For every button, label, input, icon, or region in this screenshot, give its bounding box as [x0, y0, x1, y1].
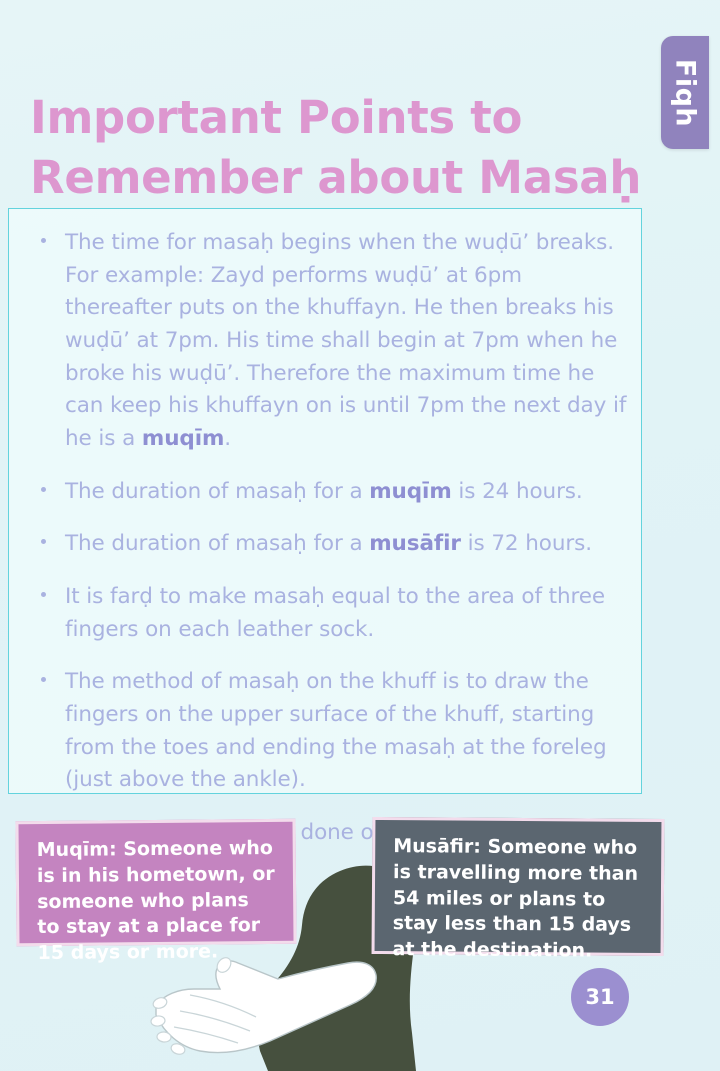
definition-term-musafir: Musāfir: — [393, 835, 481, 858]
bullet-term: muqīm — [369, 479, 451, 504]
bullet-text: is 24 hours. — [452, 479, 583, 504]
bullet-dot-icon — [41, 539, 46, 544]
bullet-text: The time for masaḥ begins when the wuḍū’… — [65, 230, 626, 451]
textbook-page: Fiqh Important Points to Remember about … — [0, 0, 720, 1071]
page-title-line-1: Important Points to — [30, 88, 680, 147]
bullet-text: The duration of masaḥ for a — [65, 479, 369, 504]
bullet-text: It is farḍ to make masaḥ equal to the ar… — [65, 584, 605, 642]
bullet-dot-icon — [41, 592, 46, 597]
bullet-text: The duration of masaḥ for a — [65, 531, 369, 556]
bullet-term: muqīm — [142, 426, 224, 451]
bullet-item: The duration of masaḥ for a musāfir is 7… — [39, 528, 627, 561]
page-title: Important Points to Remember about Masaḥ — [30, 88, 680, 207]
bullet-term: musāfir — [369, 531, 461, 556]
page-number-badge: 31 — [571, 968, 629, 1026]
bullet-list: The time for masaḥ begins when the wuḍū’… — [9, 209, 641, 850]
bullet-item: The time for masaḥ begins when the wuḍū’… — [39, 227, 627, 456]
bullet-item: The method of masaḥ on the khuff is to d… — [39, 666, 627, 797]
bullet-dot-icon — [41, 238, 46, 243]
bullet-item: The duration of masaḥ for a muqīm is 24 … — [39, 476, 627, 509]
definition-box-musafir: Musāfir: Someone who is travelling more … — [372, 817, 665, 956]
page-title-line-2: Remember about Masaḥ — [30, 148, 680, 207]
bullet-text: The method of masaḥ on the khuff is to d… — [65, 669, 607, 792]
bullet-item: It is farḍ to make masaḥ equal to the ar… — [39, 581, 627, 646]
bullet-dot-icon — [41, 487, 46, 492]
bullet-text: is 72 hours. — [461, 531, 592, 556]
bullet-dot-icon — [41, 677, 46, 682]
bullet-text: . — [224, 426, 231, 451]
content-box: The time for masaḥ begins when the wuḍū’… — [8, 208, 642, 794]
definition-box-muqim: Muqīm: Someone who is in his hometown, o… — [15, 819, 296, 946]
definition-term-muqim: Muqīm: — [37, 838, 117, 861]
